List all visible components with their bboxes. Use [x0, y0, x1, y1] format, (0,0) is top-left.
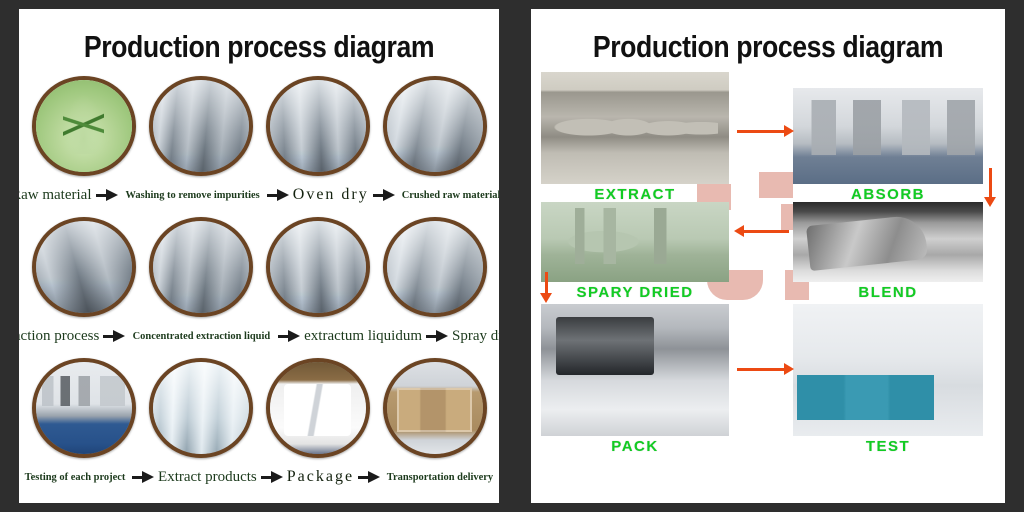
extract-tanks-photo-icon	[541, 72, 729, 184]
flow-caption: EXTRACT	[541, 186, 729, 203]
product-cans-photo-icon	[149, 358, 253, 458]
step-cell[interactable]	[379, 217, 491, 317]
spray-dried-silo-photo-icon	[541, 202, 729, 282]
pallet-crates-photo-icon	[383, 358, 487, 458]
arrow-blend-to-spary-icon	[743, 230, 789, 233]
circle-step-grid: Raw material Washing to remove impuritie…	[19, 76, 499, 499]
flow-cell-absorb[interactable]: ABSORB	[793, 88, 983, 184]
step-label: Extraction process	[19, 328, 99, 345]
concentration-tanks-photo-icon	[149, 217, 253, 317]
blender-photo-icon	[793, 202, 983, 282]
absorb-columns-photo-icon	[793, 88, 983, 184]
step-label: Crushed raw materials	[401, 189, 499, 201]
arrow-right-icon	[278, 330, 300, 343]
step-cell[interactable]	[262, 217, 374, 317]
flow-cell-spary-dried[interactable]: SPARY DRIED	[541, 202, 729, 282]
flow-cell-extract[interactable]: EXTRACT	[541, 72, 729, 184]
right-panel-title: Production process diagram	[564, 31, 972, 62]
step-cell[interactable]	[28, 76, 140, 176]
step-cell[interactable]	[379, 76, 491, 176]
right-process-panel: Production process diagram EXTRACT ABSOR…	[531, 9, 1005, 503]
step-row-1: Raw material Washing to remove impuritie…	[19, 76, 499, 217]
oven-dry-photo-icon	[266, 76, 370, 176]
flow-caption: TEST	[793, 438, 983, 455]
arrow-extract-to-absorb-icon	[737, 130, 785, 133]
arrow-right-icon	[267, 189, 289, 202]
arrow-right-icon	[96, 189, 118, 202]
spray-dryer-photo-icon	[383, 217, 487, 317]
step-cell[interactable]	[145, 76, 257, 176]
left-panel-title: Production process diagram	[53, 31, 466, 62]
step-row-2: Extraction process Concentrated extracti…	[19, 217, 499, 358]
step-label: Raw material	[19, 187, 92, 204]
arrow-right-icon	[132, 471, 154, 484]
step-cell[interactable]	[28, 217, 140, 317]
flow-cell-pack[interactable]: PACK	[541, 304, 729, 436]
lab-bench-photo-icon	[32, 358, 136, 458]
photo-flow-grid: EXTRACT ABSORB SPARY DRIED BLEND PACK	[531, 72, 1005, 502]
packaging-bags-photo-icon	[266, 358, 370, 458]
step-cell[interactable]	[379, 358, 491, 458]
step-label: Washing to remove impurities	[125, 189, 259, 201]
washing-equipment-photo-icon	[149, 76, 253, 176]
flow-cell-test[interactable]: TEST	[793, 304, 983, 436]
flow-caption: ABSORB	[793, 186, 983, 203]
flow-caption: PACK	[541, 438, 729, 455]
arrow-right-icon	[103, 330, 125, 343]
qc-laboratory-photo-icon	[793, 304, 983, 436]
accent-block	[759, 172, 793, 198]
flow-caption: SPARY DRIED	[541, 284, 729, 301]
extraction-line-photo-icon	[32, 217, 136, 317]
crusher-photo-icon	[383, 76, 487, 176]
step-cell[interactable]	[145, 217, 257, 317]
arrow-right-icon	[426, 330, 448, 343]
arrow-right-icon	[358, 471, 380, 484]
step-label: Spray drying	[452, 328, 499, 345]
left-process-panel: Production process diagram	[19, 9, 499, 503]
arrow-spary-to-pack-icon	[545, 272, 548, 294]
arrow-right-icon	[261, 471, 283, 484]
step-label: Testing of each project	[25, 471, 126, 483]
step-label: Concentrated extraction liquid	[133, 330, 271, 342]
flow-caption: BLEND	[793, 284, 983, 301]
step-label: Oven dry	[293, 186, 369, 204]
arrow-right-icon	[373, 189, 395, 202]
step-label: Extract products	[158, 469, 257, 486]
flow-cell-blend[interactable]: BLEND	[793, 202, 983, 282]
step-label: Package	[287, 468, 354, 486]
step-cell[interactable]	[262, 358, 374, 458]
step-cell[interactable]	[262, 76, 374, 176]
step-cell[interactable]	[145, 358, 257, 458]
raw-material-photo-icon	[32, 76, 136, 176]
arrow-pack-to-test-icon	[737, 368, 785, 371]
step-label: extractum liquidum	[304, 328, 422, 345]
step-row-3: Testing of each project Extract products…	[19, 358, 499, 499]
evaporator-photo-icon	[266, 217, 370, 317]
screenshot-root: Production process diagram	[0, 0, 1024, 512]
arrow-absorb-to-blend-icon	[989, 168, 992, 198]
step-cell[interactable]	[28, 358, 140, 458]
step-label: Transportation delivery	[387, 471, 493, 483]
packing-operator-photo-icon	[541, 304, 729, 436]
